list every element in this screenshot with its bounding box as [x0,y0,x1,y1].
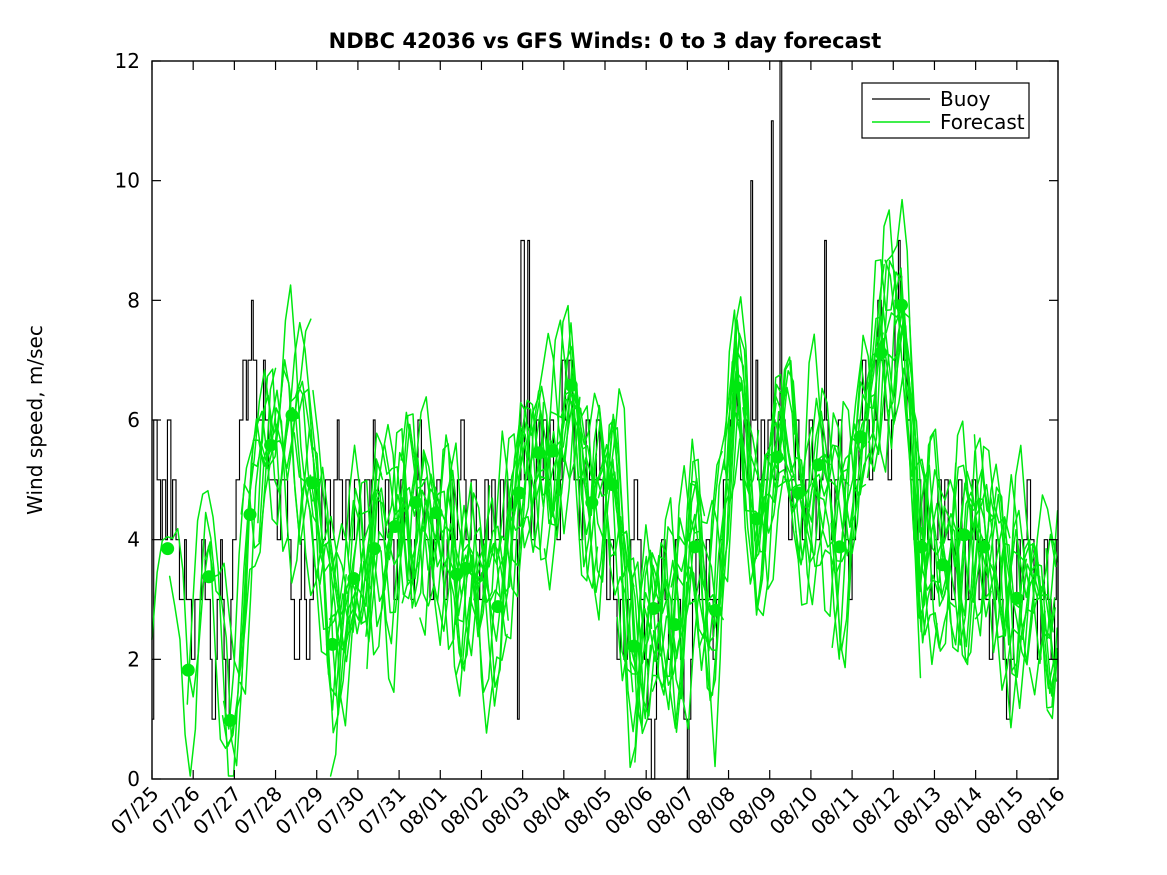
forecast-marker [326,638,339,651]
forecast-marker [792,487,805,500]
forecast-marker [688,540,701,553]
chart-figure: NDBC 42036 vs GFS Winds: 0 to 3 day fore… [0,0,1167,875]
forecast-marker [585,496,598,509]
forecast-marker [854,430,867,443]
forecast-marker [161,542,174,555]
forecast-marker [224,714,237,727]
forecast-marker [915,540,928,553]
forecast-marker [459,562,472,575]
forecast-marker [771,451,784,464]
forecast-marker [306,476,319,489]
forecast-marker [895,299,908,312]
y-tick-label: 4 [127,528,140,552]
y-tick-label: 2 [127,647,140,671]
forecast-marker [388,520,401,533]
forecast-marker [709,604,722,617]
forecast-marker [750,512,763,525]
forecast-marker [729,381,742,394]
legend-label-forecast: Forecast [940,110,1025,134]
chart-legend: Buoy Forecast [862,83,1029,138]
chart-canvas: NDBC 42036 vs GFS Winds: 0 to 3 day fore… [0,0,1167,875]
legend-label-buoy: Buoy [940,87,991,111]
y-tick-label: 0 [127,767,140,791]
y-tick-label: 12 [115,49,140,73]
forecast-marker [977,540,990,553]
forecast-marker [958,528,971,541]
forecast-marker [430,506,443,519]
forecast-marker [565,379,578,392]
forecast-marker [347,572,360,585]
forecast-marker [647,602,660,615]
y-tick-label: 8 [127,288,140,312]
forecast-marker [368,542,381,555]
forecast-marker [533,446,546,459]
y-axis-title: Wind speed, m/sec [23,325,47,515]
forecast-marker [202,570,215,583]
forecast-marker [513,487,526,500]
forecast-marker [627,640,640,653]
forecast-marker [491,600,504,613]
forecast-marker [874,346,887,359]
forecast-marker [1010,592,1023,605]
y-tick-label: 10 [115,169,140,193]
forecast-marker [264,439,277,452]
forecast-marker [669,618,682,631]
forecast-marker [546,445,559,458]
forecast-marker [286,409,299,422]
forecast-marker [833,540,846,553]
forecast-marker [936,558,949,571]
forecast-marker [182,664,195,677]
forecast-marker [244,508,257,521]
y-tick-label: 6 [127,408,140,432]
page-title: NDBC 42036 vs GFS Winds: 0 to 3 day fore… [329,29,882,53]
forecast-marker [606,478,619,491]
forecast-marker [812,458,825,471]
forecast-marker [409,496,422,509]
